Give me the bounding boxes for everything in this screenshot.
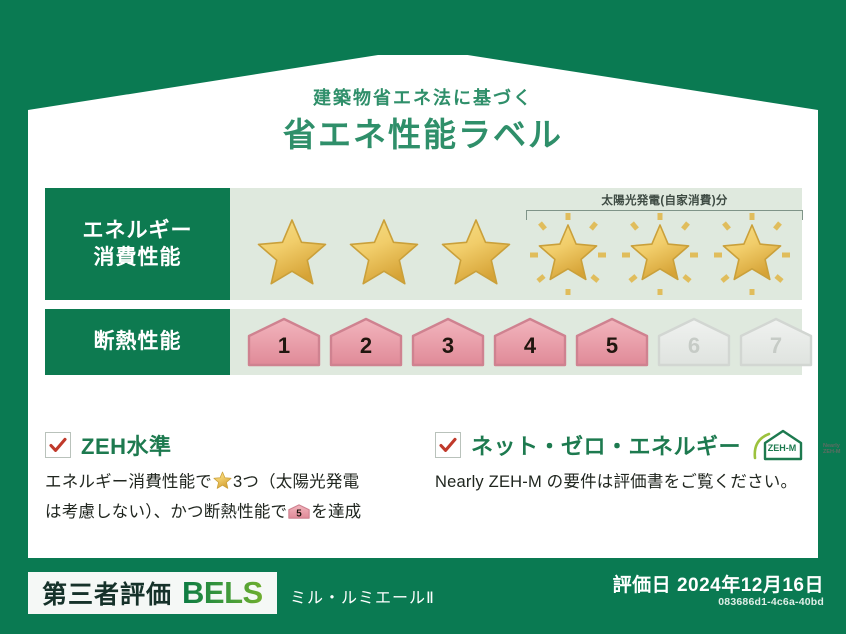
footer-bar: 第三者評価 BELS ミル・ルミエールⅡ 評価日 2024年12月16日 083… — [0, 558, 846, 634]
insulation-level-number: 1 — [246, 333, 322, 359]
insulation-level-7: 7 — [738, 316, 814, 368]
zeh-desc-part4: を達成 — [311, 503, 361, 521]
star-icon — [430, 210, 522, 296]
zeh-standard-title: ZEH水準 — [81, 429, 172, 461]
house-level-5-icon: 5 — [288, 502, 310, 529]
evaluation-date: 評価日 2024年12月16日 — [613, 570, 824, 597]
bels-certification-chip: 第三者評価 BELS — [28, 572, 277, 614]
evaluation-id: 083686d1-4c6a-40bd — [718, 596, 824, 608]
checkbox-checked-icon — [45, 432, 71, 458]
solar-bracket: 太陽光発電(自家消費)分 — [526, 192, 803, 220]
property-name: ミル・ルミエールⅡ — [290, 584, 435, 608]
insulation-level-5: 5 — [574, 316, 650, 368]
zeh-m-caption-line2: ZEH-M — [823, 449, 840, 455]
zeh-desc-part1: エネルギー消費性能で — [45, 473, 212, 491]
insulation-label-line1: 断熱性能 — [94, 328, 182, 355]
zeh-section: ZEH水準 エネルギー消費性能で 3つ（太陽光発電 は考慮しない）、かつ断熱性能… — [45, 428, 805, 528]
energy-performance-row: エネルギー 消費性能 太陽光発電(自家消費)分 — [45, 188, 802, 300]
insulation-level-number: 2 — [328, 333, 404, 359]
insulation-level-number: 6 — [656, 333, 732, 359]
solar-star-icon — [706, 210, 798, 296]
solar-star-icon — [614, 210, 706, 296]
insulation-level-number: 3 — [410, 333, 486, 359]
insulation-level-number: 5 — [574, 333, 650, 359]
insulation-performance-label: 断熱性能 — [45, 309, 230, 375]
star-icon — [338, 210, 430, 296]
insulation-level-number: 7 — [738, 333, 814, 359]
insulation-level-6: 6 — [656, 316, 732, 368]
top-bar — [0, 0, 846, 55]
zeh-standard-description: エネルギー消費性能で 3つ（太陽光発電 は考慮しない）、かつ断熱性能で 5 を達… — [45, 469, 413, 528]
insulation-level-1: 1 — [246, 316, 322, 368]
net-zero-energy-block: ネット・ゼロ・エネルギー ZEH-M Nearly ZEH-M Nearly Z… — [435, 428, 805, 528]
zeh-desc-part3: は考慮しない）、かつ断熱性能で — [45, 503, 287, 521]
insulation-performance-meter: 1 2 3 — [230, 309, 802, 375]
energy-performance-label: エネルギー 消費性能 — [45, 188, 230, 300]
net-zero-energy-description: Nearly ZEH-M の要件は評価書をご覧ください。 — [435, 469, 805, 496]
insulation-level-number: 4 — [492, 333, 568, 359]
third-party-label: 第三者評価 — [42, 575, 172, 611]
svg-text:5: 5 — [296, 508, 302, 519]
insulation-level-3: 3 — [410, 316, 486, 368]
solar-star-icon — [522, 210, 614, 296]
insulation-level-scale: 1 2 3 — [246, 309, 814, 375]
zeh-m-logo-caption: Nearly ZEH-M — [823, 444, 840, 456]
energy-star-rating — [230, 210, 802, 296]
net-zero-energy-title: ネット・ゼロ・エネルギー — [471, 429, 741, 461]
insulation-level-4: 4 — [492, 316, 568, 368]
bels-energy-label: 住宅（住棟） 再エネ設備あり 建築物省エネ法に基づく — [0, 0, 846, 634]
energy-performance-meter: 太陽光発電(自家消費)分 — [230, 188, 802, 300]
zeh-standard-header: ZEH水準 — [45, 428, 413, 462]
zeh-standard-block: ZEH水準 エネルギー消費性能で 3つ（太陽光発電 は考慮しない）、かつ断熱性能… — [45, 428, 413, 528]
performance-rows: エネルギー 消費性能 太陽光発電(自家消費)分 — [45, 188, 802, 384]
label-subtitle: 建築物省エネ法に基づく — [0, 84, 846, 110]
bels-logo-text: BELS — [182, 575, 263, 611]
svg-text:ZEH-M: ZEH-M — [768, 443, 797, 453]
energy-label-line2: 消費性能 — [94, 244, 182, 271]
energy-label-line1: エネルギー — [83, 217, 193, 244]
net-zero-energy-header: ネット・ゼロ・エネルギー ZEH-M Nearly ZEH-M — [435, 428, 805, 462]
star-icon — [246, 210, 338, 296]
solar-bracket-label: 太陽光発電(自家消費)分 — [526, 192, 803, 208]
zeh-m-logo-icon: ZEH-M — [751, 428, 813, 462]
star-icon — [213, 471, 232, 499]
insulation-level-2: 2 — [328, 316, 404, 368]
checkbox-checked-icon — [435, 432, 461, 458]
page-title: 省エネ性能ラベル — [0, 108, 846, 156]
solar-bracket-line — [526, 210, 803, 220]
insulation-performance-row: 断熱性能 1 — [45, 309, 802, 375]
zeh-desc-part2: 3つ（太陽光発電 — [233, 473, 359, 491]
